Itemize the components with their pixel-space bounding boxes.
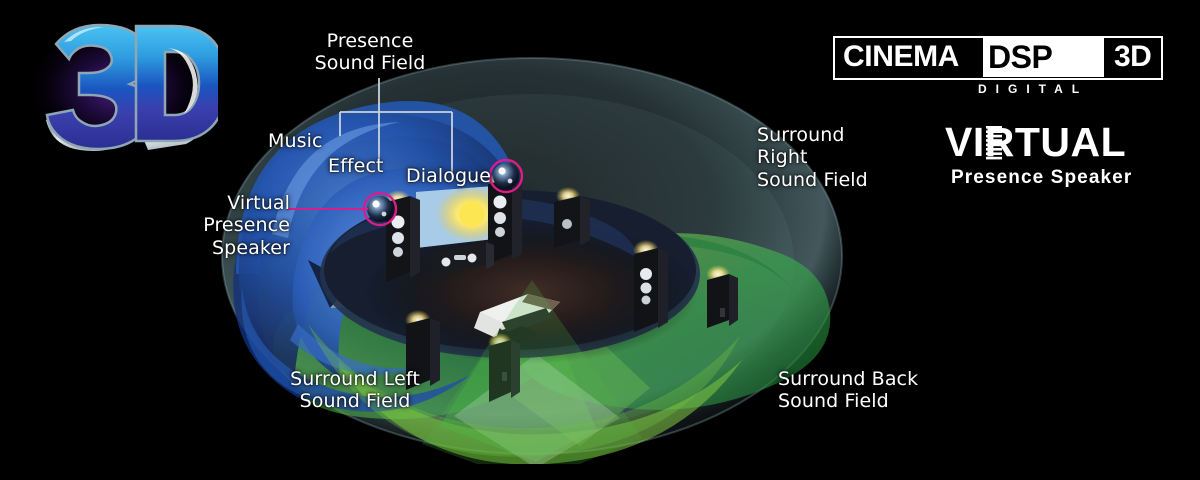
label-virtual-presence-speaker: Virtual Presence Speaker: [150, 192, 290, 259]
label-effect: Effect: [328, 155, 418, 177]
label-surround-back-sound-field: Surround Back Sound Field: [778, 368, 998, 413]
label-music: Music: [268, 130, 348, 152]
cinema-dsp-dsp-text: DSP: [988, 39, 1052, 76]
label-presence-sound-field: Presence Sound Field: [250, 30, 490, 75]
cinema-dsp-3d-text: 3D: [1114, 40, 1151, 74]
label-dialogue: Dialogue: [406, 165, 506, 187]
virtual-presence-speaker-marker-left: [364, 193, 396, 225]
cinema-dsp-cinema-text: CINEMA: [843, 40, 959, 74]
virtual-wordmark: VIRTUAL: [945, 122, 1126, 163]
virtual-presence-speaker-logo: VIRTUAL Presence Speaker: [945, 122, 1175, 192]
label-surround-left-sound-field: Surround Left Sound Field: [230, 368, 480, 413]
virtual-subtitle: Presence Speaker: [951, 167, 1132, 189]
label-surround-right-sound-field: Surround Right Sound Field: [757, 124, 957, 191]
cinema-dsp-digital-text: DIGITAL: [978, 82, 1088, 96]
diagram-canvas: Presence Sound Field Music Effect Dialog…: [0, 0, 1200, 480]
cinema-dsp-3d-logo: CINEMA DSP 3D DIGITAL: [833, 36, 1163, 98]
virtual-i-grille-icon: [986, 126, 1002, 160]
